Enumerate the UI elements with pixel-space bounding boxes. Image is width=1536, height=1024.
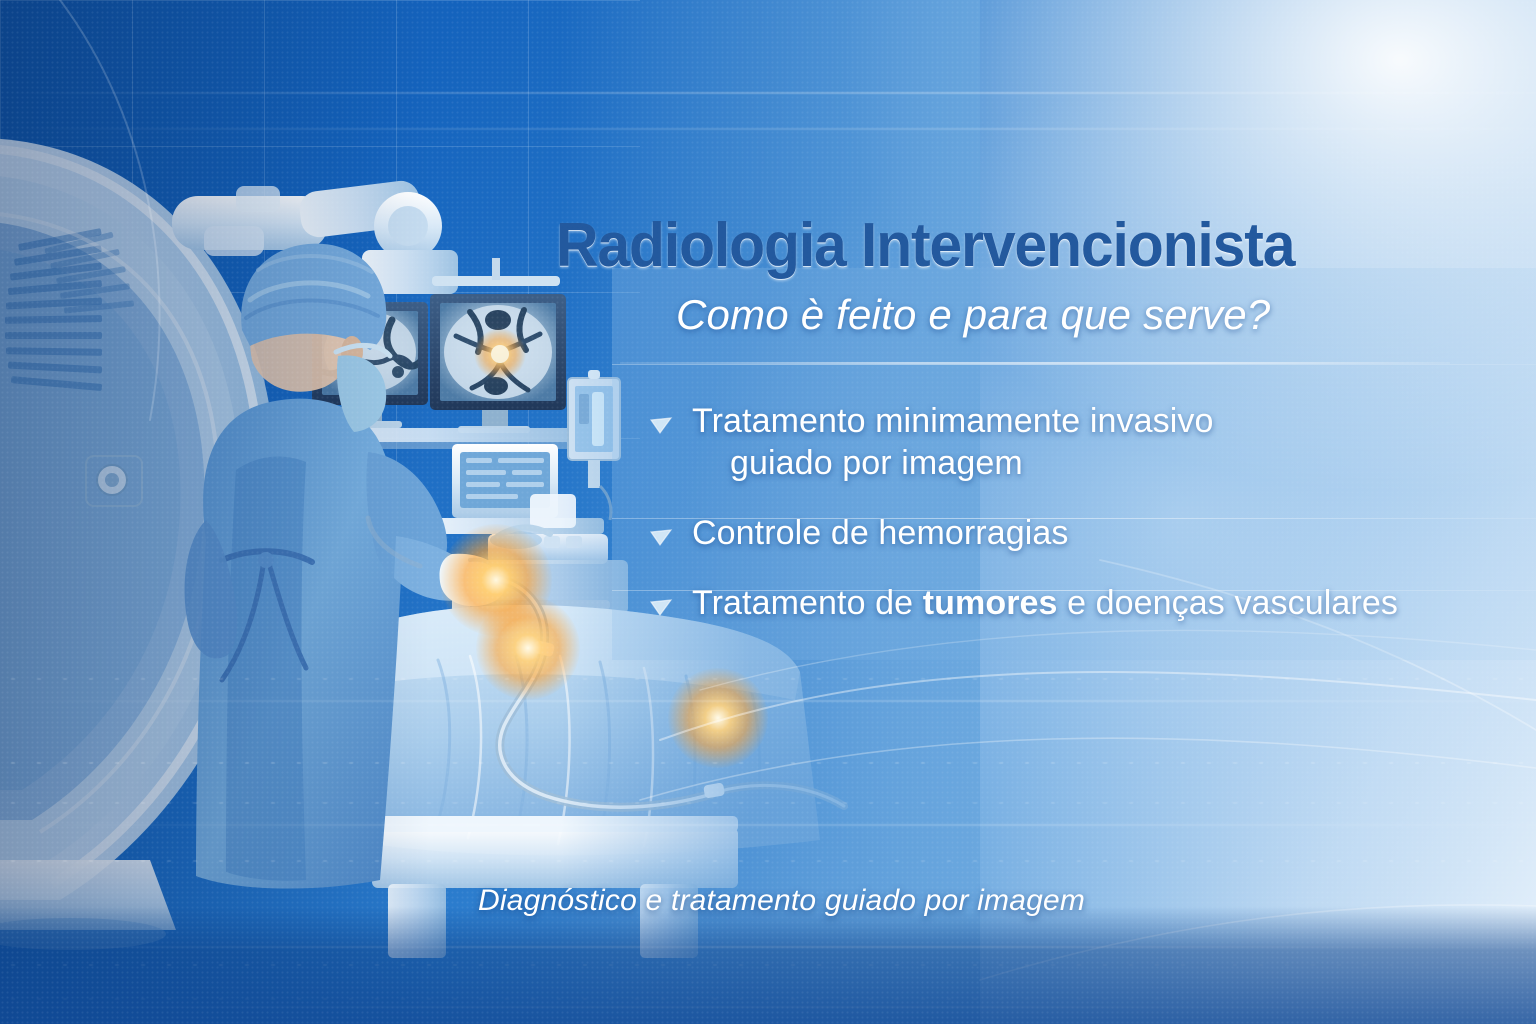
auxiliary-vertical-display [568, 370, 620, 520]
bg-dotline-3 [0, 800, 1536, 806]
check-chevron-icon [648, 595, 674, 621]
surgeon [185, 244, 506, 889]
check-chevron-icon [648, 525, 674, 551]
angiography-monitor-right [430, 258, 566, 433]
background-grid [0, 0, 640, 560]
bg-dotline-2 [0, 760, 1536, 766]
bg-dotline-4 [0, 858, 1536, 864]
list-item: Tratamento de tumores e doenças vascular… [648, 582, 1508, 624]
list-item: Tratamento minimamente invasivo guiado p… [648, 400, 1508, 484]
list-item-line1: Tratamento minimamente invasivo [692, 402, 1213, 440]
catheter-glow-point-3 [668, 668, 768, 768]
benefits-list: Tratamento minimamente invasivo guiado p… [648, 400, 1508, 645]
list-item-emphasis: tumores [923, 584, 1058, 622]
catheter-glow-point-2 [476, 596, 580, 700]
control-console [408, 444, 628, 614]
bg-hline-5 [0, 946, 1536, 948]
page-title: Radiologia Intervencionista [556, 214, 1411, 277]
bg-hline-2 [0, 128, 1536, 130]
page-subtitle: Como è feito e para que serve? [676, 292, 1436, 338]
list-item-suffix: e doenças vasculares [1058, 584, 1398, 622]
bg-hline-3 [0, 700, 1536, 702]
angiography-monitor-left [312, 302, 428, 428]
list-item-text: Tratamento minimamente invasivo guiado p… [692, 400, 1213, 484]
bg-dotline-6 [0, 996, 1536, 1002]
footer-caption: Diagnóstico e tratamento guiado por imag… [478, 884, 1378, 918]
list-item-prefix: Tratamento de [692, 584, 923, 622]
bg-hline-1 [0, 92, 1536, 94]
bg-dotline-1 [0, 676, 1536, 682]
check-chevron-icon [648, 413, 674, 439]
list-item-line1: Controle de hemorragias [692, 514, 1069, 552]
infographic-poster: Radiologia Intervencionista Como è feito… [0, 0, 1536, 1024]
list-item-text: Controle de hemorragias [692, 512, 1069, 554]
c-arm-gantry [0, 138, 276, 950]
list-item-text: Tratamento de tumores e doenças vascular… [692, 582, 1398, 624]
bottom-band [0, 906, 1536, 1024]
bg-dotline-5 [0, 962, 1536, 968]
left-vignette [0, 0, 430, 1024]
list-item-line2: guiado por imagem [692, 442, 1213, 484]
list-item: Controle de hemorragias [648, 512, 1508, 554]
subtitle-divider [620, 362, 1450, 364]
bg-hline-6 [0, 1006, 1536, 1008]
content-separator-1 [612, 364, 1536, 365]
bg-hline-4 [0, 824, 1536, 826]
catheter-glow-point-1 [440, 524, 552, 636]
ceiling-mounted-arm [172, 179, 458, 294]
